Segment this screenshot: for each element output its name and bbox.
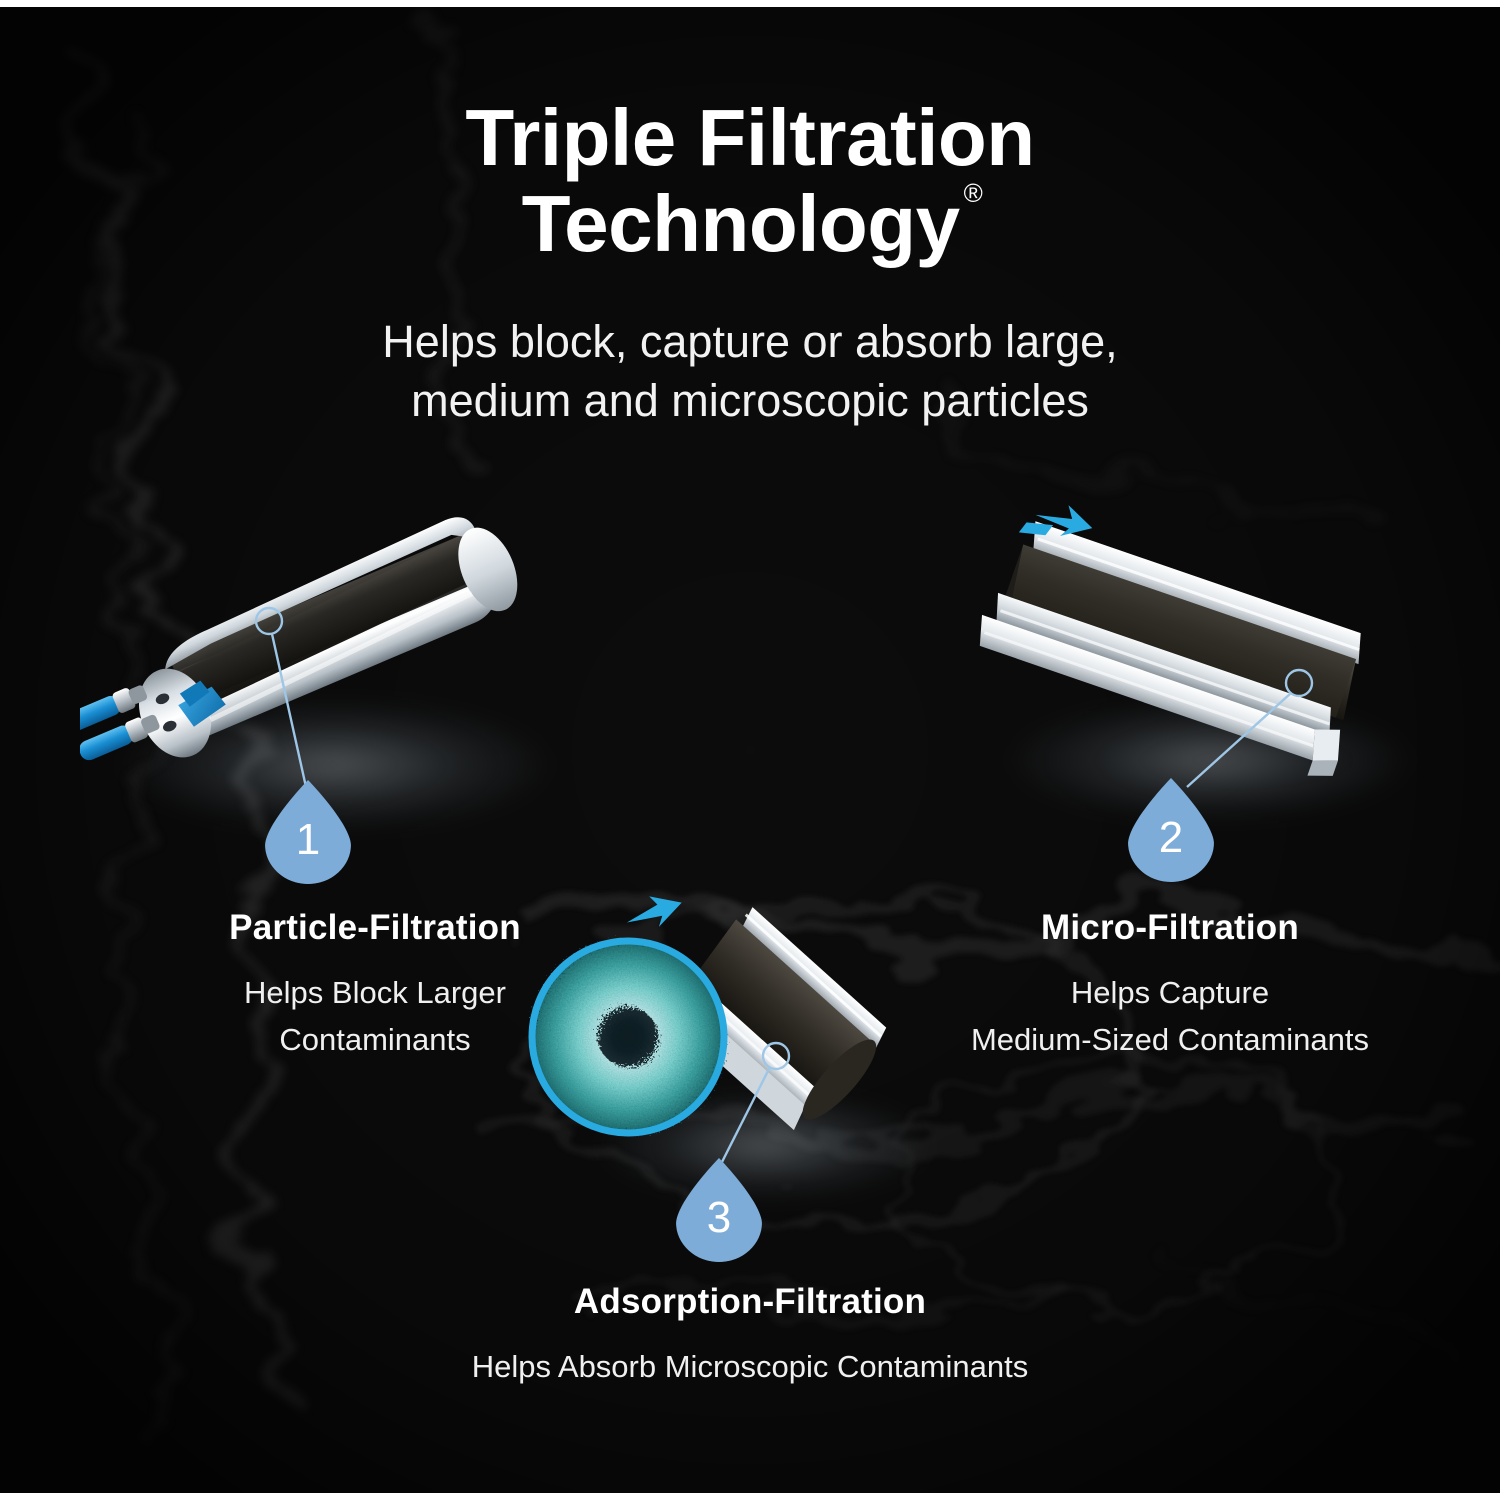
feature-2-desc-line-2: Medium-Sized Contaminants	[971, 1022, 1369, 1057]
step-badge-2-number: 2	[1159, 816, 1183, 860]
feature-1-desc-line-1: Helps Block Larger	[244, 975, 506, 1010]
feature-3-desc-line-1: Helps Absorb Microscopic Contaminants	[472, 1349, 1029, 1384]
infographic-canvas: Triple Filtration Technology® Helps bloc…	[0, 0, 1500, 1500]
title-line-2: Technology	[522, 179, 960, 268]
feature-2-description: Helps Capture Medium-Sized Contaminants	[880, 970, 1460, 1063]
feature-3-description: Helps Absorb Microscopic Contaminants	[350, 1344, 1150, 1391]
page-title: Triple Filtration Technology®	[0, 95, 1500, 268]
feature-2-desc-line-1: Helps Capture	[1071, 975, 1269, 1010]
feature-adsorption-filtration: Adsorption-Filtration Helps Absorb Micro…	[350, 1282, 1150, 1391]
product-image-micro-filtration	[955, 505, 1405, 795]
feature-3-heading: Adsorption-Filtration	[350, 1282, 1150, 1322]
feature-2-heading: Micro-Filtration	[880, 908, 1460, 948]
page-subtitle: Helps block, capture or absorb large, me…	[0, 312, 1500, 431]
subtitle-line-1: Helps block, capture or absorb large,	[382, 316, 1117, 367]
product-image-particle-filtration	[80, 495, 560, 795]
feature-1-description: Helps Block Larger Contaminants	[55, 970, 695, 1063]
feature-particle-filtration: Particle-Filtration Helps Block Larger C…	[55, 908, 695, 1063]
title-line-1: Triple Filtration	[465, 93, 1034, 182]
top-edge-band	[0, 0, 1500, 7]
feature-1-desc-line-2: Contaminants	[279, 1022, 470, 1057]
registered-trademark-icon: ®	[964, 178, 983, 208]
bottom-edge-band	[0, 1493, 1500, 1500]
subtitle-line-2: medium and microscopic particles	[411, 375, 1089, 426]
feature-micro-filtration: Micro-Filtration Helps Capture Medium-Si…	[880, 908, 1460, 1063]
step-badge-1-number: 1	[296, 818, 320, 862]
feature-1-heading: Particle-Filtration	[55, 908, 695, 948]
step-badge-1: 1	[265, 780, 351, 884]
step-badge-3-number: 3	[707, 1196, 731, 1240]
